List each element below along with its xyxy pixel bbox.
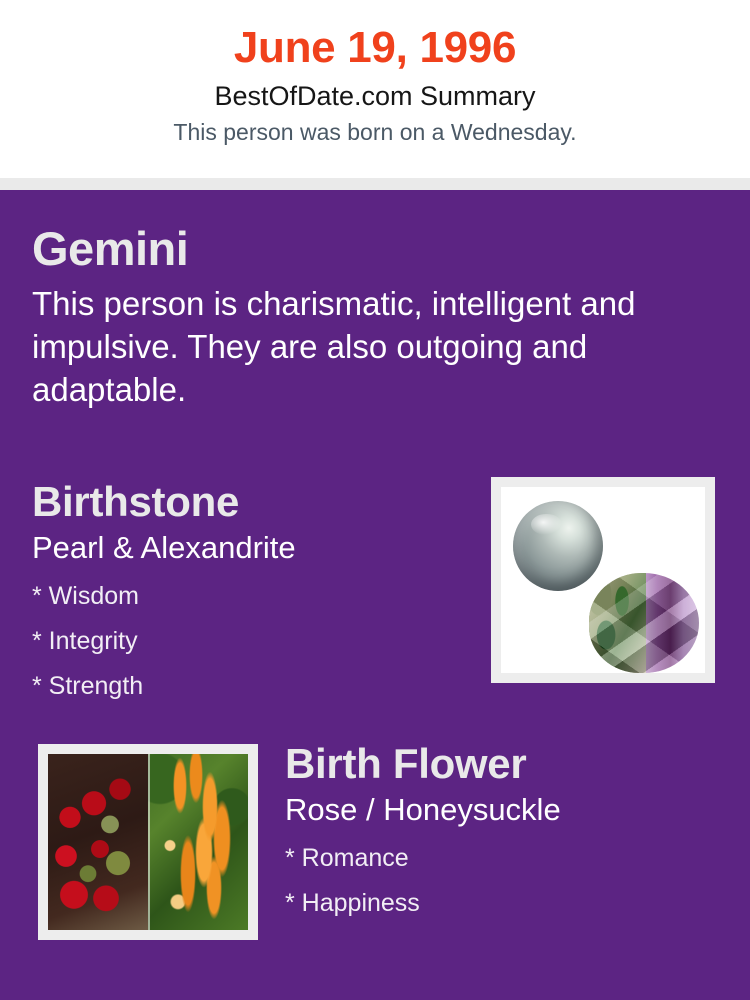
birthstone-value: Pearl & Alexandrite — [32, 528, 472, 568]
image-split-divider — [148, 754, 150, 930]
alexandrite-gem-icon — [589, 573, 699, 673]
birthstone-section: Birthstone Pearl & Alexandrite * Wisdom … — [32, 476, 472, 709]
birth-flower-value: Rose / Honeysuckle — [285, 790, 725, 830]
birthstone-trait-list: * Wisdom * Integrity * Strength — [32, 568, 472, 709]
birthstone-image — [491, 477, 715, 683]
site-name-summary: BestOfDate.com Summary — [0, 74, 750, 114]
born-weekday-text: This person was born on a Wednesday. — [0, 114, 750, 148]
birth-flower-trait-list: * Romance * Happiness — [285, 830, 725, 926]
zodiac-sign-title: Gemini — [32, 220, 718, 278]
summary-card: June 19, 1996 BestOfDate.com Summary Thi… — [0, 0, 750, 1000]
red-roses-photo-half — [48, 754, 148, 930]
page-title-date: June 19, 1996 — [0, 0, 750, 74]
birthstone-image-inner — [501, 487, 705, 673]
list-item: * Romance — [285, 836, 725, 881]
list-item: * Strength — [32, 664, 472, 709]
birth-flower-title: Birth Flower — [285, 738, 725, 790]
alexandrite-facets — [589, 573, 699, 673]
header-divider — [0, 178, 750, 190]
zodiac-section: Gemini This person is charismatic, intel… — [32, 220, 718, 411]
birth-flower-section: Birth Flower Rose / Honeysuckle * Romanc… — [285, 738, 725, 926]
birth-flower-image — [38, 744, 258, 940]
list-item: * Happiness — [285, 881, 725, 926]
birth-flower-image-inner — [48, 754, 248, 930]
zodiac-description: This person is charismatic, intelligent … — [32, 278, 702, 411]
list-item: * Integrity — [32, 619, 472, 664]
header: June 19, 1996 BestOfDate.com Summary Thi… — [0, 0, 750, 178]
birthstone-title: Birthstone — [32, 476, 472, 528]
list-item: * Wisdom — [32, 574, 472, 619]
honeysuckle-photo-half — [148, 754, 248, 930]
